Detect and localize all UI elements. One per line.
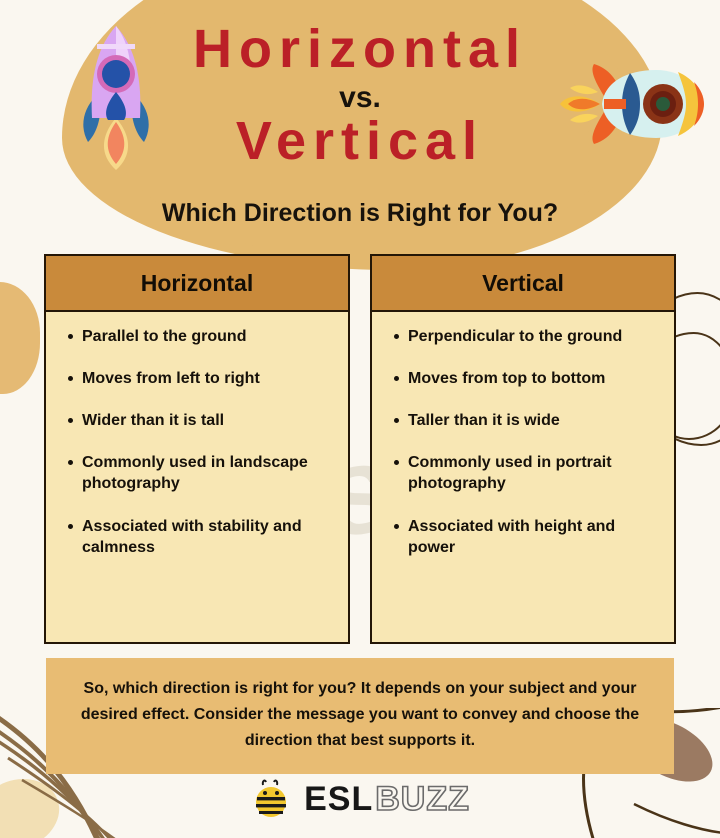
list-item: Associated with stability and calmness xyxy=(82,516,338,558)
list-item: Commonly used in landscape photography xyxy=(82,452,338,494)
card-vertical-header: Vertical xyxy=(372,256,674,312)
left-edge-blob-decoration xyxy=(0,282,40,394)
list-item: Moves from top to bottom xyxy=(408,368,664,389)
list-item: Associated with height and power xyxy=(408,516,664,558)
list-item: Wider than it is tall xyxy=(82,410,338,431)
list-item: Taller than it is wide xyxy=(408,410,664,431)
logo-text-buzz: BUZZ xyxy=(375,780,470,819)
poster-header: Horizontal vs. Vertical Which Direction … xyxy=(0,0,720,228)
conclusion-box: So, which direction is right for you? It… xyxy=(46,658,674,774)
infographic-poster: Horizontal vs. Vertical Which Direction … xyxy=(0,0,720,838)
card-vertical-body: Perpendicular to the ground Moves from t… xyxy=(372,312,674,642)
poster-subtitle: Which Direction is Right for You? xyxy=(0,169,720,228)
bee-icon xyxy=(250,778,292,820)
title-horizontal: Horizontal xyxy=(0,0,720,77)
logo-text-esl: ESL xyxy=(304,780,373,819)
list-item: Moves from left to right xyxy=(82,368,338,389)
list-item: Commonly used in portrait photography xyxy=(408,452,664,494)
footer-logo: ESL BUZZ xyxy=(0,778,720,820)
card-vertical: Vertical Perpendicular to the ground Mov… xyxy=(370,254,676,644)
title-vs-separator: vs. xyxy=(0,77,720,114)
title-vertical: Vertical xyxy=(0,114,720,169)
card-horizontal: Horizontal Parallel to the ground Moves … xyxy=(44,254,350,644)
list-item: Parallel to the ground xyxy=(82,326,338,347)
comparison-cards-container: Horizontal Parallel to the ground Moves … xyxy=(44,254,676,644)
card-horizontal-header: Horizontal xyxy=(46,256,348,312)
list-item: Perpendicular to the ground xyxy=(408,326,664,347)
card-horizontal-body: Parallel to the ground Moves from left t… xyxy=(46,312,348,642)
